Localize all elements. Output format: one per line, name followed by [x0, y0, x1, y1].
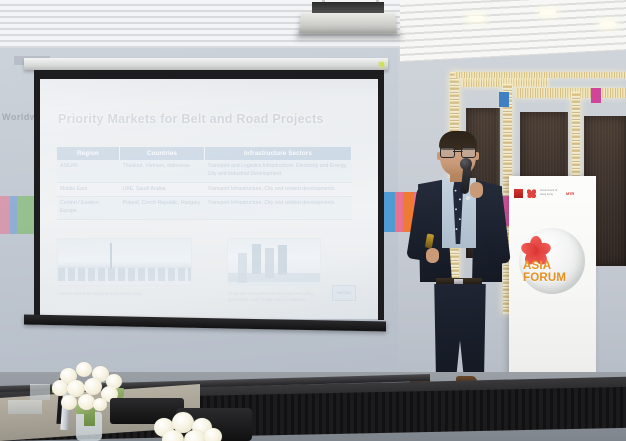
- bauhinia-flower-logo-icon: [527, 189, 536, 198]
- ceiling-light: [540, 10, 556, 15]
- glassware: [8, 400, 42, 414]
- projection-screen-case: [24, 58, 388, 70]
- slide-photo-caption-left: Factory units in an industrial park in I…: [58, 291, 188, 297]
- cell-countries: UAE, Saudi Arabia: [120, 182, 205, 197]
- slide-title: Priority Markets for Belt and Road Proje…: [58, 112, 324, 126]
- partner-logo-icon: MTR: [566, 191, 574, 196]
- glassware: [30, 384, 50, 400]
- column-header-countries: Countries: [120, 147, 205, 160]
- projection-screen-surface: Priority Markets for Belt and Road Proje…: [40, 79, 378, 319]
- slide-photo-caption-right: Integrated Comprehensive Development (of…: [228, 291, 332, 303]
- banner-title: ASIA FORUM: [523, 260, 596, 284]
- slide-photo-factory: [58, 239, 191, 285]
- cell-countries: Poland, Czech Republic, Hungary: [120, 197, 205, 220]
- ceiling-light: [468, 16, 484, 21]
- priority-markets-table: Region Countries Infrastructure Sectors …: [57, 147, 352, 220]
- eyeglasses-icon: [440, 147, 476, 156]
- table-row: Middle East UAE, Saudi Arabia Transport …: [57, 182, 352, 197]
- cell-region: Middle East: [57, 182, 120, 197]
- cell-sectors: Transport Infrastructure, City and relat…: [205, 182, 352, 197]
- presentation-slide: Priority Markets for Belt and Road Proje…: [40, 79, 378, 319]
- cell-region: ASEAN: [57, 160, 120, 182]
- screen-status-led: [379, 62, 384, 67]
- projector: [299, 13, 397, 33]
- cell-sectors: Transport and Logistics Infrastructure, …: [205, 160, 352, 182]
- cell-countries: Thailand, Vietnam, Indonesia: [120, 160, 205, 182]
- presenter: [396, 130, 526, 410]
- projector-shadow: [296, 32, 402, 40]
- cell-region: Central / Eastern Europe: [57, 197, 120, 220]
- lens-right: [461, 147, 476, 158]
- gold-cornice: [455, 72, 626, 78]
- slide-photo-towers: [228, 239, 320, 285]
- gold-frame-top: [516, 88, 626, 98]
- microphone-head: [460, 158, 472, 170]
- hand-left: [426, 248, 439, 263]
- banner-side-swatch-blue: [499, 92, 509, 107]
- banner-logo-caption: Government of Hong Kong: [540, 189, 562, 196]
- lapel-pin: [466, 196, 470, 200]
- screen-border-right: [378, 70, 384, 320]
- slide-corner-logo: HKTDC: [332, 285, 356, 301]
- column-header-region: Region: [57, 147, 120, 160]
- screen-border-top: [34, 70, 384, 79]
- table-row: Central / Eastern Europe Poland, Czech R…: [57, 197, 352, 220]
- column-header-sectors: Infrastructure Sectors: [205, 147, 352, 160]
- table-header-row: Region Countries Infrastructure Sectors: [57, 147, 352, 160]
- conference-photo-scene: Worldwide Priority Markets for Belt and …: [0, 0, 626, 441]
- ceiling-light: [600, 22, 616, 27]
- table-row: ASEAN Thailand, Vietnam, Indonesia Trans…: [57, 160, 352, 182]
- cell-sectors: Transport Infrastructure, City and relat…: [205, 197, 352, 220]
- rose-bouquet-secondary: [148, 408, 228, 441]
- lens-left: [440, 147, 455, 158]
- banner-side-swatch-pink: [591, 88, 601, 103]
- left-color-stripes: [0, 196, 34, 234]
- slide-photo-row: [58, 239, 354, 287]
- hand-right: [470, 182, 483, 198]
